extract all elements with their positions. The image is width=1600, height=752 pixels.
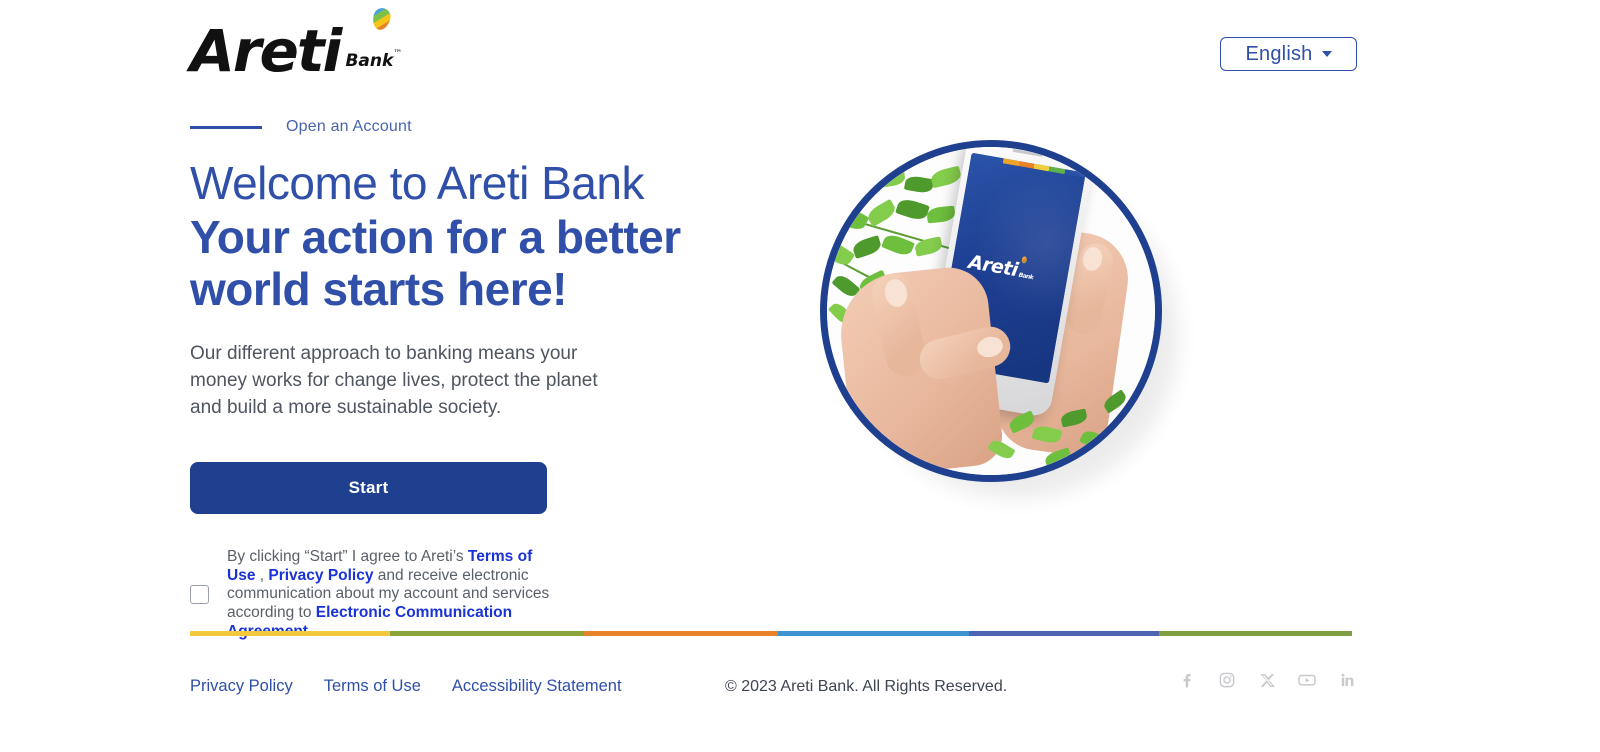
footer-link-privacy-policy[interactable]: Privacy Policy bbox=[190, 677, 293, 696]
leaf-dot-icon bbox=[371, 6, 393, 31]
language-selector-label: English bbox=[1246, 43, 1313, 66]
x-twitter-icon[interactable] bbox=[1257, 670, 1277, 690]
color-bar-segment bbox=[190, 631, 390, 636]
leaf-icon bbox=[895, 197, 930, 223]
phone-logo-sub: Bank bbox=[1018, 272, 1033, 281]
footer-link-accessibility-statement[interactable]: Accessibility Statement bbox=[452, 677, 622, 696]
logo-wordmark: Areti bbox=[190, 22, 340, 80]
logo-subtext: Bank ™ bbox=[345, 51, 393, 71]
hero-description: Our different approach to banking means … bbox=[190, 341, 620, 422]
leaf-icon bbox=[851, 235, 883, 259]
hero-image-circle-frame: AretiBank bbox=[820, 140, 1162, 482]
leaf-icon bbox=[930, 166, 963, 189]
brand-color-bar bbox=[190, 631, 1352, 636]
consent-text: By clicking “Start” I agree to Areti’s T… bbox=[227, 548, 552, 643]
chevron-down-icon bbox=[1322, 51, 1332, 57]
social-links bbox=[1177, 670, 1357, 690]
eyebrow-rule bbox=[190, 126, 262, 129]
leaf-dot-icon bbox=[1021, 256, 1027, 264]
leaf-icon bbox=[827, 238, 855, 269]
color-bar-segment bbox=[584, 631, 778, 636]
color-bar-segment bbox=[778, 631, 969, 636]
leaf-icon bbox=[904, 175, 934, 195]
facebook-icon[interactable] bbox=[1177, 670, 1197, 690]
consent-prefix: By clicking “Start” I agree to Areti’s bbox=[227, 548, 468, 565]
linkedin-icon[interactable] bbox=[1337, 670, 1357, 690]
leaf-icon bbox=[878, 169, 906, 187]
consent-row: By clicking “Start” I agree to Areti’s T… bbox=[190, 548, 810, 643]
color-bar-segment bbox=[390, 631, 584, 636]
leaf-icon bbox=[847, 178, 881, 205]
page-footer: Privacy PolicyTerms of UseAccessibility … bbox=[0, 670, 1600, 720]
color-bar-segment bbox=[969, 631, 1160, 636]
trademark-icon: ™ bbox=[393, 49, 402, 59]
leaf-icon bbox=[926, 206, 955, 224]
consent-separator: , bbox=[255, 567, 268, 584]
areti-bank-logo[interactable]: Areti Bank ™ bbox=[190, 22, 393, 80]
copyright-text: © 2023 Areti Bank. All Rights Reserved. bbox=[725, 678, 1007, 696]
start-button[interactable]: Start bbox=[190, 462, 547, 514]
footer-links: Privacy PolicyTerms of UseAccessibility … bbox=[190, 677, 622, 696]
hero-image: AretiBank bbox=[820, 140, 1162, 482]
page-header: Areti Bank ™ English bbox=[0, 0, 1600, 110]
leaf-icon bbox=[833, 203, 870, 234]
consent-checkbox[interactable] bbox=[190, 585, 209, 604]
page-subtitle-line1: Your action for a better bbox=[190, 212, 810, 263]
breadcrumb: Open an Account bbox=[190, 118, 810, 136]
page-subtitle-line2: world starts here! bbox=[190, 264, 810, 315]
hero-image-scene: AretiBank bbox=[827, 147, 1155, 475]
color-bar-segment bbox=[1159, 631, 1352, 636]
language-selector-button[interactable]: English bbox=[1220, 37, 1357, 71]
youtube-icon[interactable] bbox=[1297, 670, 1317, 690]
instagram-icon[interactable] bbox=[1217, 670, 1237, 690]
footer-link-terms-of-use[interactable]: Terms of Use bbox=[324, 677, 421, 696]
phone-brand-stripe bbox=[971, 153, 1086, 178]
logo-subtext-label: Bank bbox=[345, 51, 393, 71]
open-account-page: Areti Bank ™ English Open an Account Wel… bbox=[0, 0, 1600, 752]
hero-content-column: Open an Account Welcome to Areti Bank Yo… bbox=[190, 118, 810, 642]
leaf-icon bbox=[865, 199, 898, 227]
eyebrow-label: Open an Account bbox=[286, 118, 412, 136]
phone-speaker-icon bbox=[1012, 149, 1042, 157]
page-title: Welcome to Areti Bank bbox=[190, 158, 810, 210]
privacy-policy-link[interactable]: Privacy Policy bbox=[268, 567, 373, 584]
